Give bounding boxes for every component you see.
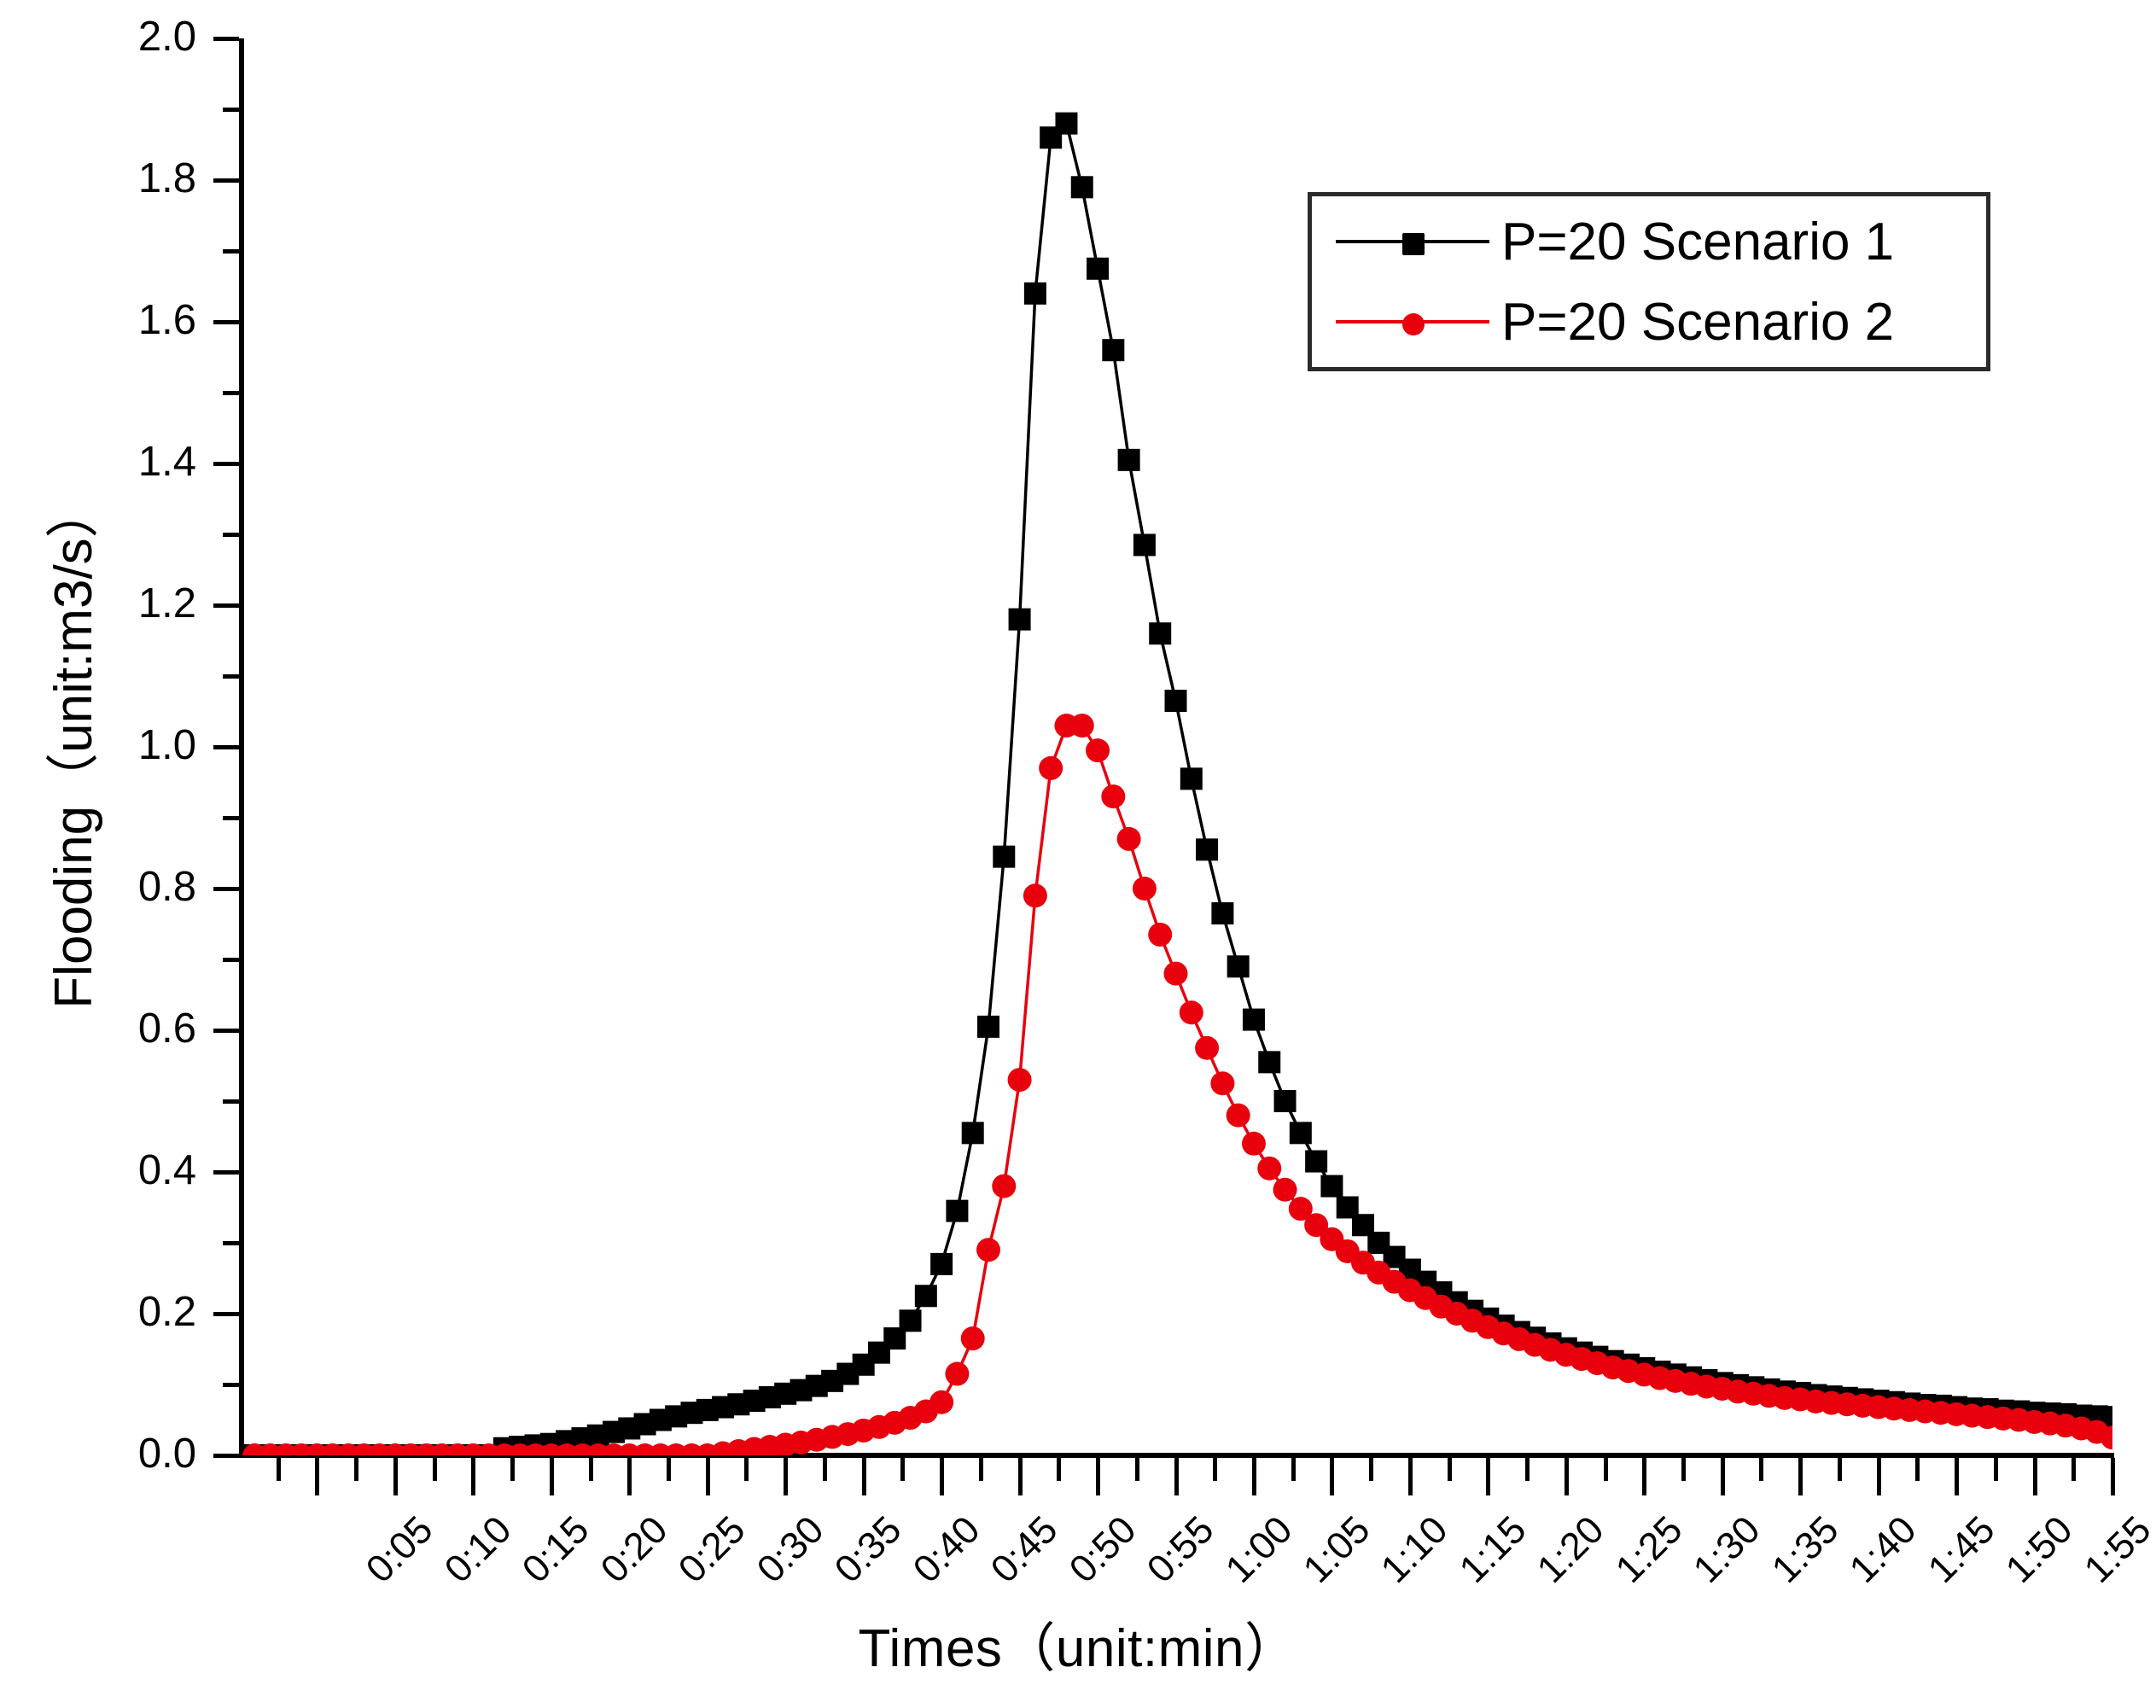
circle-marker-icon: [1070, 714, 1094, 737]
circle-marker-icon: [961, 1326, 985, 1350]
x-tick-minor: [900, 1458, 905, 1481]
x-tick-major: [1408, 1458, 1413, 1495]
x-tick-major: [1565, 1458, 1569, 1495]
y-tick-minor: [223, 816, 239, 820]
y-tick-label: 0.8: [51, 866, 196, 908]
series-2-line: [254, 726, 2112, 1455]
y-tick-minor: [223, 1099, 239, 1104]
y-tick-major: [213, 320, 239, 324]
x-tick-major: [315, 1458, 319, 1495]
x-tick-minor: [1213, 1458, 1217, 1481]
square-marker-icon: [1087, 258, 1109, 280]
x-tick-label: 1:45: [1919, 1507, 2003, 1592]
x-tick-major: [1877, 1458, 1881, 1495]
square-marker-icon: [1071, 176, 1093, 198]
y-tick-major: [213, 1170, 239, 1175]
x-tick-label: 0:30: [748, 1507, 832, 1592]
circle-marker-icon: [1210, 1071, 1234, 1095]
x-tick-label: 0:40: [904, 1507, 988, 1592]
x-tick-major: [2111, 1458, 2115, 1495]
x-tick-major: [1955, 1458, 1959, 1495]
flooding-time-series-chart: Flooding（unit:m3/s） Times（unit:min） 0.00…: [0, 0, 2156, 1708]
y-tick-major: [213, 745, 239, 749]
square-marker-icon: [1009, 609, 1031, 631]
circle-marker-icon: [1133, 877, 1157, 901]
circle-marker-icon: [1402, 313, 1425, 335]
circle-marker-icon: [1008, 1068, 1032, 1092]
x-tick-minor: [433, 1458, 437, 1481]
x-tick-minor: [277, 1458, 281, 1481]
legend-sample-series-1: [1336, 227, 1489, 256]
x-tick-label: 1:55: [2075, 1507, 2156, 1592]
y-tick-label: 0.2: [51, 1291, 196, 1333]
x-tick-minor: [354, 1458, 358, 1481]
square-marker-icon: [946, 1200, 968, 1222]
square-marker-icon: [1196, 838, 1218, 860]
square-marker-icon: [1227, 955, 1250, 977]
square-marker-icon: [1102, 339, 1124, 361]
x-tick-label: 0:45: [982, 1507, 1067, 1592]
x-tick-major: [1018, 1458, 1023, 1495]
x-tick-major: [1096, 1458, 1100, 1495]
x-tick-label: 1:20: [1529, 1507, 1613, 1592]
x-axis-title: Times（unit:min）: [0, 1605, 2156, 1682]
x-tick-major: [1721, 1458, 1725, 1495]
legend-item-series-1[interactable]: P=20 Scenario 1: [1336, 216, 1986, 267]
x-tick-minor: [1291, 1458, 1296, 1481]
square-marker-icon: [1258, 1051, 1280, 1073]
y-tick-major: [213, 37, 239, 41]
x-tick-label: 1:40: [1841, 1507, 1926, 1592]
y-tick-major: [213, 603, 239, 608]
x-tick-label: 1:10: [1372, 1507, 1457, 1592]
y-tick-minor: [223, 1241, 239, 1245]
x-tick-label: 1:35: [1763, 1507, 1847, 1592]
y-tick-label: 1.4: [51, 441, 196, 483]
square-marker-icon: [930, 1253, 953, 1275]
y-tick-label: 1.2: [51, 583, 196, 625]
series-2-group: [242, 714, 2112, 1455]
square-marker-icon: [915, 1285, 937, 1307]
x-tick-label: 0:20: [591, 1507, 676, 1592]
x-tick-major: [1330, 1458, 1334, 1495]
y-tick-minor: [223, 108, 239, 112]
y-tick-minor: [223, 674, 239, 679]
y-tick-label: 0.0: [51, 1433, 196, 1475]
x-tick-label: 1:05: [1295, 1507, 1379, 1592]
x-tick-label: 2:00: [2153, 1507, 2156, 1592]
square-marker-icon: [1211, 902, 1233, 924]
y-tick-major: [213, 462, 239, 466]
y-tick-major: [213, 1029, 239, 1033]
x-tick-minor: [589, 1458, 593, 1481]
legend[interactable]: P=20 Scenario 1 P=20 Scenario 2: [1308, 192, 1990, 371]
square-marker-icon: [993, 846, 1015, 868]
square-marker-icon: [977, 1016, 999, 1038]
circle-marker-icon: [1180, 1000, 1203, 1024]
circle-marker-icon: [1086, 738, 1110, 762]
x-tick-major: [627, 1458, 632, 1495]
circle-marker-icon: [945, 1362, 969, 1386]
x-tick-major: [393, 1458, 398, 1495]
square-marker-icon: [1149, 622, 1171, 644]
x-tick-label: 1:15: [1451, 1507, 1535, 1592]
x-tick-major: [550, 1458, 554, 1495]
x-tick-label: 0:35: [826, 1507, 911, 1592]
legend-label-series-1: P=20 Scenario 1: [1489, 212, 1894, 272]
x-tick-major: [1252, 1458, 1256, 1495]
x-tick-label: 1:30: [1685, 1507, 1769, 1592]
y-tick-label: 2.0: [51, 16, 196, 58]
x-tick-minor: [823, 1458, 827, 1481]
x-tick-label: 0:05: [358, 1507, 442, 1592]
y-tick-label: 0.6: [51, 1008, 196, 1050]
x-tick-minor: [1681, 1458, 1686, 1481]
square-marker-icon: [1055, 113, 1077, 135]
square-marker-icon: [1024, 283, 1046, 305]
y-tick-label: 1.6: [51, 300, 196, 341]
circle-marker-icon: [1117, 827, 1141, 851]
square-marker-icon: [1180, 767, 1203, 790]
square-marker-icon: [1133, 533, 1156, 556]
x-tick-minor: [1838, 1458, 1842, 1481]
circle-marker-icon: [1195, 1036, 1219, 1060]
circle-marker-icon: [1101, 784, 1125, 808]
x-tick-minor: [1604, 1458, 1608, 1481]
x-tick-label: 0:10: [436, 1507, 521, 1592]
circle-marker-icon: [929, 1390, 953, 1414]
x-tick-major: [1642, 1458, 1646, 1495]
square-marker-icon: [1305, 1151, 1327, 1173]
x-tick-minor: [979, 1458, 983, 1481]
x-tick-major: [706, 1458, 710, 1495]
square-marker-icon: [1118, 449, 1140, 471]
y-tick-label: 1.0: [51, 725, 196, 767]
square-marker-icon: [1274, 1090, 1297, 1112]
circle-marker-icon: [1227, 1104, 1250, 1128]
legend-sample-series-2: [1336, 307, 1489, 336]
y-tick-label: 1.8: [51, 158, 196, 200]
square-marker-icon: [1243, 1009, 1265, 1031]
square-marker-icon: [1320, 1175, 1343, 1198]
x-tick-minor: [667, 1458, 671, 1481]
x-tick-minor: [1448, 1458, 1452, 1481]
x-tick-minor: [2072, 1458, 2076, 1481]
x-tick-major: [862, 1458, 866, 1495]
circle-marker-icon: [976, 1238, 1000, 1262]
square-marker-icon: [1290, 1122, 1312, 1144]
x-tick-minor: [1915, 1458, 1920, 1481]
x-tick-minor: [744, 1458, 749, 1481]
x-tick-minor: [1135, 1458, 1139, 1481]
legend-item-series-2[interactable]: P=20 Scenario 2: [1336, 296, 1986, 347]
x-tick-major: [471, 1458, 475, 1495]
circle-marker-icon: [1039, 756, 1063, 780]
x-tick-label: 1:25: [1606, 1507, 1691, 1592]
x-tick-minor: [1759, 1458, 1763, 1481]
x-tick-minor: [1057, 1458, 1061, 1481]
square-marker-icon: [962, 1122, 984, 1144]
x-tick-label: 1:00: [1216, 1507, 1301, 1592]
y-tick-label: 0.4: [51, 1150, 196, 1192]
x-tick-minor: [1369, 1458, 1373, 1481]
y-tick-minor: [223, 533, 239, 537]
x-tick-minor: [1525, 1458, 1530, 1481]
legend-label-series-2: P=20 Scenario 2: [1489, 292, 1894, 353]
y-tick-major: [213, 1312, 239, 1316]
x-tick-label: 0:55: [1139, 1507, 1223, 1592]
x-tick-major: [1798, 1458, 1803, 1495]
circle-marker-icon: [1148, 923, 1172, 947]
circle-marker-icon: [1023, 883, 1047, 907]
x-tick-major: [2033, 1458, 2037, 1495]
circle-marker-icon: [992, 1175, 1016, 1198]
y-tick-major: [213, 1454, 239, 1458]
x-tick-major: [1486, 1458, 1490, 1495]
y-tick-minor: [223, 1383, 239, 1387]
square-marker-icon: [1165, 690, 1187, 712]
x-tick-minor: [510, 1458, 515, 1481]
x-tick-label: 0:25: [670, 1507, 755, 1592]
x-tick-label: 1:50: [1997, 1507, 2082, 1592]
y-tick-major: [213, 887, 239, 891]
y-tick-minor: [223, 958, 239, 962]
circle-marker-icon: [1257, 1157, 1281, 1180]
y-tick-minor: [223, 391, 239, 395]
x-tick-major: [1174, 1458, 1179, 1495]
x-tick-label: 0:50: [1060, 1507, 1145, 1592]
x-tick-minor: [1994, 1458, 1998, 1481]
x-tick-label: 0:15: [514, 1507, 598, 1592]
y-tick-major: [213, 178, 239, 183]
y-tick-minor: [223, 249, 239, 254]
square-marker-icon: [900, 1309, 922, 1332]
x-tick-major: [784, 1458, 788, 1495]
circle-marker-icon: [1164, 962, 1188, 986]
circle-marker-icon: [1242, 1132, 1266, 1156]
square-marker-icon: [1402, 233, 1425, 255]
circle-marker-icon: [1273, 1178, 1297, 1202]
x-tick-major: [940, 1458, 944, 1495]
